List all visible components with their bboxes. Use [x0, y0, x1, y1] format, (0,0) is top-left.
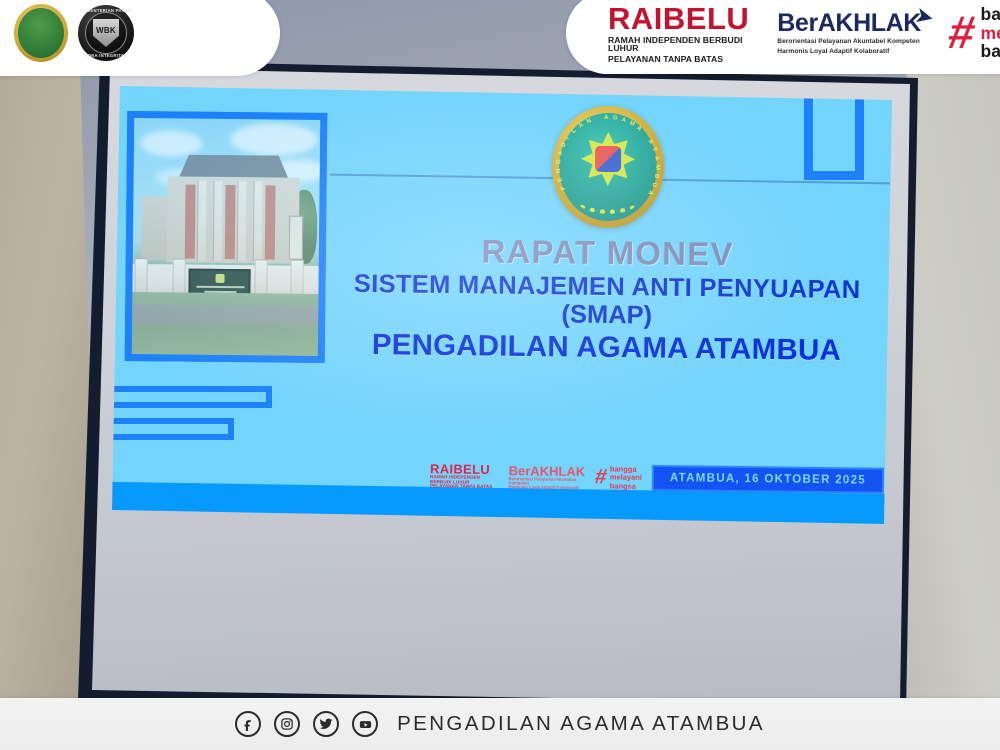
berakhlak-logo: BerAKHLAK ➤ Berorientasi Pelayanan Akunt…: [777, 11, 921, 55]
screenshot-root: PENGADILAN AGAMA ATAMBUA RAPAT MONEV SIS…: [0, 0, 1000, 750]
slide-title-block: RAPAT MONEV SISTEM MANAJEMEN ANTI PENYUA…: [329, 233, 885, 368]
top-banner: WBK KEMENTERIAN PANRB ZONA INTEGRITAS RA…: [0, 0, 1000, 70]
slide-date-badge: ATAMBUA, 16 OKTOBER 2025: [652, 466, 884, 495]
slide-title-line3: PENGADILAN AGAMA ATAMBUA: [329, 328, 883, 368]
twitter-icon[interactable]: [313, 711, 339, 737]
slide-berakhlak-logo: BerAKHLAK Berorientasi Pelayanan Akuntab…: [508, 464, 585, 491]
raibelu-title: RAIBELU: [608, 3, 749, 34]
slide-raibelu-logo: RAIBELU RAMAH INDEPENDEN BERBUDI LUHUR P…: [430, 462, 499, 490]
facebook-icon[interactable]: [235, 711, 261, 737]
courthouse-photo: [125, 111, 328, 363]
pengadilan-agama-atambua-seal-icon: PENGADILAN AGAMA ATAMBUA: [551, 105, 664, 228]
bangga-line-2: melayani: [981, 24, 1000, 43]
youtube-icon[interactable]: [352, 711, 378, 737]
instagram-icon[interactable]: [274, 711, 300, 737]
slide-berakhlak-sub2: Harmonis Loyal Adaptif Kolaboratif: [508, 485, 585, 490]
header-brand-strip: RAIBELU RAMAH INDEPENDEN BERBUDI LUHUR P…: [566, 0, 1000, 74]
header-left-emblems: WBK KEMENTERIAN PANRB ZONA INTEGRITAS: [0, 0, 280, 76]
berakhlak-title: BerAKHLAK: [777, 11, 921, 36]
slide-title-kicker: RAPAT MONEV: [330, 233, 884, 274]
raibelu-tagline-1: RAMAH INDEPENDEN BERBUDI LUHUR: [608, 36, 749, 53]
bottom-footer-bar: PENGADILAN AGAMA ATAMBUA: [0, 698, 1000, 750]
raibelu-logo: RAIBELU RAMAH INDEPENDEN BERBUDI LUHUR P…: [608, 3, 749, 64]
presentation-slide: PENGADILAN AGAMA ATAMBUA RAPAT MONEV SIS…: [112, 86, 892, 524]
berakhlak-arrow-icon: ➤: [914, 5, 935, 28]
slide-hash-icon: #: [594, 468, 609, 487]
slide-bangga-line3: bangsa: [610, 482, 642, 491]
wbk-zona-integritas-emblem-icon: WBK KEMENTERIAN PANRB ZONA INTEGRITAS: [78, 5, 134, 61]
slide-bangga-logo: # bangga melayani bangsa: [595, 465, 642, 491]
decorative-rectangle-outline: [804, 86, 864, 180]
wall-left: [0, 0, 92, 712]
berakhlak-tagline-2: Harmonis Loyal Adaptif Kolaboratif: [777, 49, 921, 56]
decorative-bar-bottom: [112, 418, 234, 440]
bangga-melayani-bangsa-logo: # bangga melayani bangsa: [949, 5, 1000, 61]
footer-text: PENGADILAN AGAMA ATAMBUA: [397, 712, 765, 736]
raibelu-tagline-2: PELAYANAN TANPA BATAS: [608, 55, 749, 64]
pengadilan-agama-atambua-emblem-icon: [14, 4, 68, 62]
bangga-line-3: bangsa: [981, 42, 1000, 61]
decorative-bar-top: [112, 386, 272, 408]
hash-icon: #: [946, 15, 978, 51]
berakhlak-tagline-1: Berorientasi Pelayanan Akuntabel Kompete…: [777, 39, 921, 46]
bangga-line-1: bangga: [981, 5, 1000, 24]
